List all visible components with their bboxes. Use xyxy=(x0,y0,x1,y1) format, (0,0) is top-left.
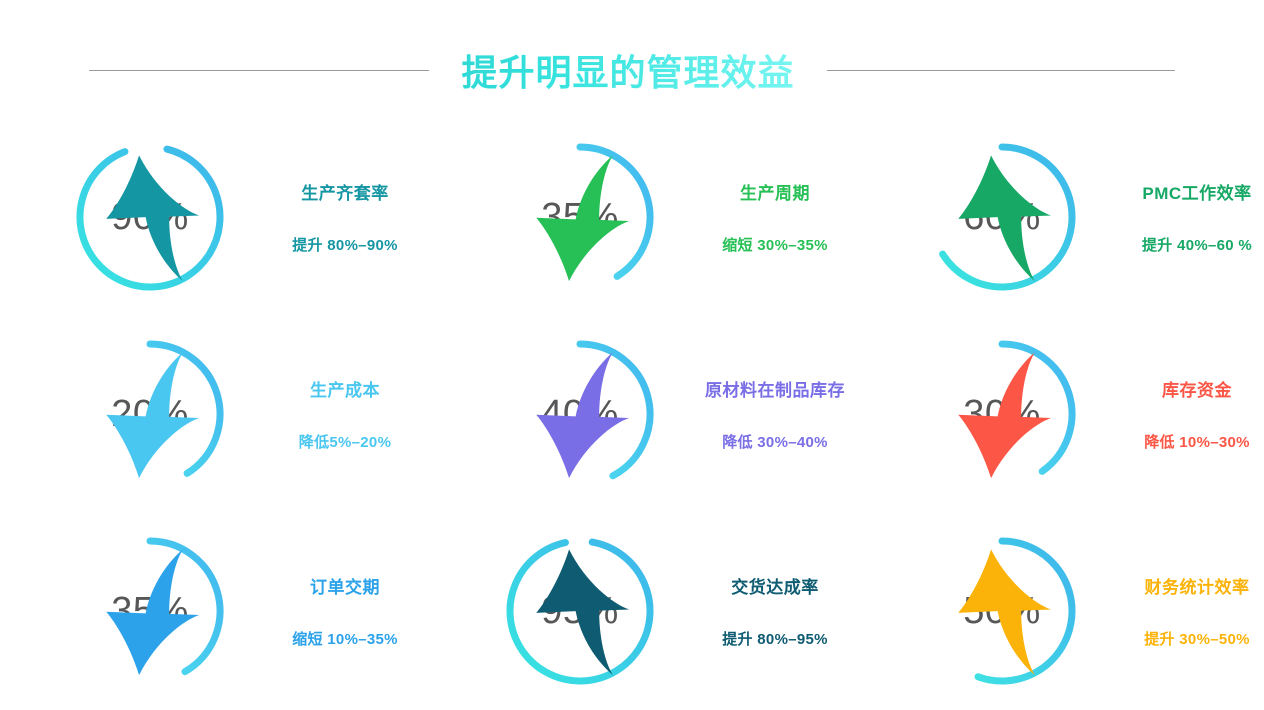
kpi-text-block: 库存资金降低 10%–30% xyxy=(1102,376,1264,452)
kpi-ring-center: 90% xyxy=(68,135,232,299)
kpi-ring: 35% xyxy=(498,135,662,299)
kpi-ring: 30% xyxy=(920,332,1084,496)
kpi-ring-center: 50% xyxy=(920,529,1084,693)
kpi-label: 原材料在制品库存 xyxy=(705,376,845,401)
arrow-down-icon xyxy=(68,336,232,500)
arrow-down-icon xyxy=(68,533,232,697)
page-title: 提升明显的管理效益 xyxy=(461,44,794,96)
kpi-ring: 90% xyxy=(68,135,232,299)
arrow-up-icon xyxy=(920,139,1084,303)
kpi-cell: 35%订单交期缩短 10%–35% xyxy=(0,513,440,710)
kpi-cell: 95%交货达成率提升 80%–95% xyxy=(440,513,870,710)
kpi-ring-center: 40% xyxy=(498,332,662,496)
kpi-text-block: PMC工作效率提升 40%–60 % xyxy=(1102,179,1264,255)
kpi-cell: 30%库存资金降低 10%–30% xyxy=(870,315,1264,512)
kpi-delta: 缩短 30%–35% xyxy=(722,234,828,255)
kpi-ring-center: 35% xyxy=(68,529,232,693)
arrow-down-icon xyxy=(920,336,1084,500)
kpi-ring: 35% xyxy=(68,529,232,693)
kpi-label: 交货达成率 xyxy=(731,573,819,598)
kpi-label: 订单交期 xyxy=(310,573,380,598)
arrow-down-icon xyxy=(498,139,662,303)
arrow-up-icon xyxy=(498,533,662,697)
kpi-text-block: 交货达成率提升 80%–95% xyxy=(680,573,870,649)
header-rule-left xyxy=(89,70,429,71)
kpi-ring: 20% xyxy=(68,332,232,496)
kpi-text-block: 订单交期缩短 10%–35% xyxy=(250,573,440,649)
kpi-ring-center: 35% xyxy=(498,135,662,299)
kpi-text-block: 原材料在制品库存降低 30%–40% xyxy=(680,376,870,452)
kpi-ring: 40% xyxy=(498,332,662,496)
kpi-cell: 60%PMC工作效率提升 40%–60 % xyxy=(870,118,1264,315)
header-rule-right xyxy=(827,70,1175,71)
kpi-ring: 60% xyxy=(920,135,1084,299)
kpi-delta: 缩短 10%–35% xyxy=(292,628,398,649)
kpi-label: 生产齐套率 xyxy=(301,179,389,204)
kpi-delta: 降低5%–20% xyxy=(299,431,391,452)
kpi-text-block: 生产齐套率提升 80%–90% xyxy=(250,179,440,255)
kpi-text-block: 财务统计效率提升 30%–50% xyxy=(1102,573,1264,649)
kpi-ring-center: 60% xyxy=(920,135,1084,299)
kpi-delta: 提升 30%–50% xyxy=(1144,628,1250,649)
kpi-ring: 50% xyxy=(920,529,1084,693)
arrow-up-icon xyxy=(920,533,1084,697)
page-header: 提升明显的管理效益 xyxy=(0,40,1264,100)
kpi-cell: 40%原材料在制品库存降低 30%–40% xyxy=(440,315,870,512)
kpi-text-block: 生产成本降低5%–20% xyxy=(250,376,440,452)
kpi-ring: 95% xyxy=(498,529,662,693)
kpi-label: 生产周期 xyxy=(740,179,810,204)
kpi-grid: 90%生产齐套率提升 80%–90%35%生产周期缩短 30%–35%60%PM… xyxy=(0,118,1264,710)
kpi-label: 生产成本 xyxy=(310,376,380,401)
kpi-delta: 提升 40%–60 % xyxy=(1142,234,1252,255)
kpi-label: 财务统计效率 xyxy=(1145,573,1250,598)
kpi-ring-center: 20% xyxy=(68,332,232,496)
kpi-cell: 20%生产成本降低5%–20% xyxy=(0,315,440,512)
kpi-text-block: 生产周期缩短 30%–35% xyxy=(680,179,870,255)
kpi-label: 库存资金 xyxy=(1162,376,1232,401)
kpi-delta: 提升 80%–90% xyxy=(292,234,398,255)
kpi-delta: 降低 30%–40% xyxy=(722,431,828,452)
kpi-delta: 提升 80%–95% xyxy=(722,628,828,649)
kpi-delta: 降低 10%–30% xyxy=(1144,431,1250,452)
kpi-cell: 50%财务统计效率提升 30%–50% xyxy=(870,513,1264,710)
kpi-cell: 35%生产周期缩短 30%–35% xyxy=(440,118,870,315)
kpi-label: PMC工作效率 xyxy=(1142,179,1251,204)
kpi-cell: 90%生产齐套率提升 80%–90% xyxy=(0,118,440,315)
arrow-up-icon xyxy=(68,139,232,303)
kpi-ring-center: 30% xyxy=(920,332,1084,496)
arrow-down-icon xyxy=(498,336,662,500)
kpi-ring-center: 95% xyxy=(498,529,662,693)
